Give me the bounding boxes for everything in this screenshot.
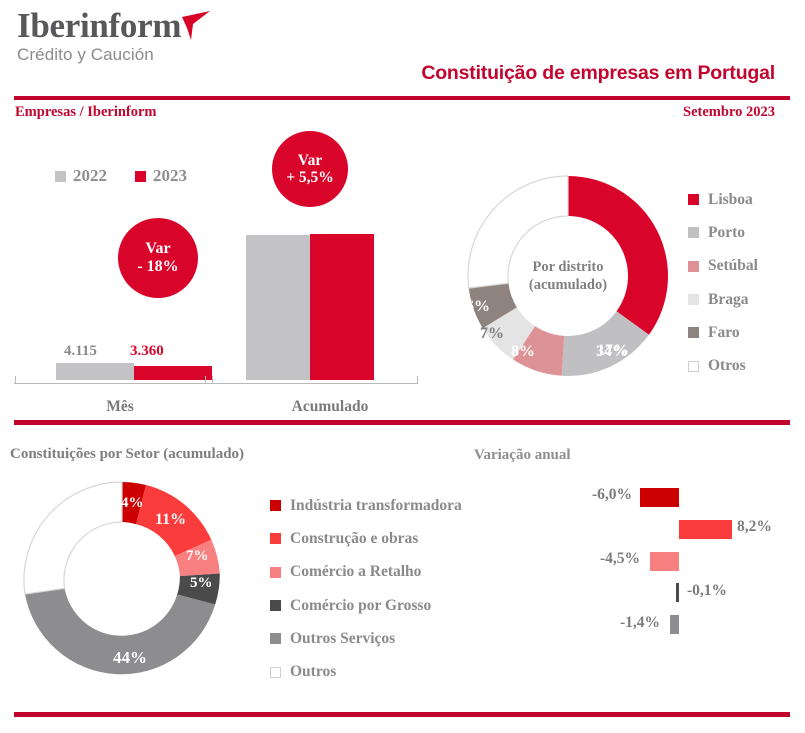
legend-label-construcao: Construção e obras [290,530,418,548]
legend-swatch-porto [688,227,699,238]
legend-item-braga: Braga [688,283,758,316]
legend-label-outros-servicos: Outros Serviços [290,630,395,648]
badge-acu-line1: Var [298,152,322,169]
donut-value-faro: 6% [466,298,490,316]
district-legend: Lisboa Porto Setúbal Braga Faro Otros [688,183,758,383]
bar-value-mes-2023: 3.360 [130,343,164,360]
sector-value-outros-servicos: 44% [113,648,147,668]
var-value-outros-servicos: -1,4% [620,614,660,632]
legend-label-outros: Outros [290,663,336,681]
brand-name: Iberinform [17,8,181,44]
section-divider [14,420,790,425]
legend-label-grosso: Comércio por Grosso [290,597,431,615]
donut-slice-lisboa [568,176,668,335]
bar-value-mes-2022: 4.115 [64,343,97,360]
legend-label-otros: Otros [708,357,746,375]
annual-variation-bars [560,482,805,642]
legend-swatch-faro [688,327,699,338]
var-bar-retalho [650,552,679,571]
brand-tagline: Crédito y Caución [17,45,181,65]
header-rule [14,96,790,100]
legend-swatch-construcao [270,533,281,544]
var-value-retalho: -4,5% [600,550,640,568]
sector-slice-outros [24,482,122,594]
sector-section-title: Constituições por Setor (acumulado) [10,446,244,463]
bar-category-label-mes: Mês [70,398,170,416]
district-donut [460,168,676,389]
sector-value-construcao: 11% [155,511,186,529]
bar-chart-axis [14,383,418,384]
bar-mes-2023 [134,366,212,380]
legend-label-porto: Porto [708,224,745,242]
legend-swatch-grosso [270,600,281,611]
legend-swatch-braga [688,294,699,305]
var-value-grosso: -0,1% [687,582,727,600]
sector-value-grosso: 5% [190,575,213,592]
subhead-source: Empresas / Iberinform [15,104,157,121]
axis-tick-left [15,376,16,384]
legend-swatch-otros [688,361,699,372]
legend-swatch-outros [270,667,281,678]
donut-value-braga: 7% [480,325,504,343]
legend-item-construcao: Construção e obras [270,522,462,555]
var-bar-industria [640,488,679,507]
legend-item-industria: Indústria transformadora [270,489,462,522]
bar-acumulado-2023 [310,234,374,380]
legend-item-retalho: Comércio a Retalho [270,556,462,589]
footer-rule [14,712,790,717]
legend-swatch-lisboa [688,194,699,205]
var-value-construcao: 8,2% [737,518,772,536]
var-bar-outros-servicos [670,615,679,634]
axis-tick-right [417,376,418,384]
bar-mes-2022 [56,363,134,380]
var-value-industria: -6,0% [592,486,632,504]
brand-swoosh-icon [180,10,214,47]
sector-value-industria: 4% [121,495,144,512]
variation-section-title: Variação anual [474,447,571,464]
legend-label-industria: Indústria transformadora [290,497,462,515]
legend-swatch-retalho [270,567,281,578]
legend-item-lisboa: Lisboa [688,183,758,216]
var-bar-construcao [679,520,732,539]
page-title: Constituição de empresas em Portugal [421,62,775,85]
axis-tick-mid-b [212,376,213,384]
legend-swatch-setubal [688,261,699,272]
infographic-page: Iberinform Crédito y Caución Constituiçã… [0,0,805,733]
legend-item-porto: Porto [688,216,758,249]
bar-category-label-acumulado: Acumulado [262,398,398,416]
sector-legend: Indústria transformadora Construção e ob… [270,489,462,689]
subhead-period: Setembro 2023 [683,104,775,121]
legend-swatch-industria [270,500,281,511]
legend-label-faro: Faro [708,324,740,342]
donut-value-porto: 17% [597,342,629,360]
legend-item-outros-servicos: Outros Serviços [270,622,462,655]
brand-logo: Iberinform Crédito y Caución [17,8,181,65]
legend-item-faro: Faro [688,316,758,349]
legend-swatch-outros-servicos [270,633,281,644]
var-bar-grosso [676,583,679,602]
sector-value-retalho: 7% [186,548,209,565]
legend-label-retalho: Comércio a Retalho [290,563,421,581]
legend-item-setubal: Setúbal [688,250,758,283]
legend-label-setubal: Setúbal [708,257,758,275]
legend-item-grosso: Comércio por Grosso [270,589,462,622]
bar-acumulado-2022 [246,235,310,380]
donut-value-setubal: 8% [511,343,535,361]
legend-item-outros: Outros [270,655,462,688]
legend-label-braga: Braga [708,291,748,309]
axis-tick-mid-a [205,376,206,384]
donut-slice-otros [468,176,568,288]
legend-label-lisboa: Lisboa [708,191,753,209]
legend-item-otros: Otros [688,349,758,382]
